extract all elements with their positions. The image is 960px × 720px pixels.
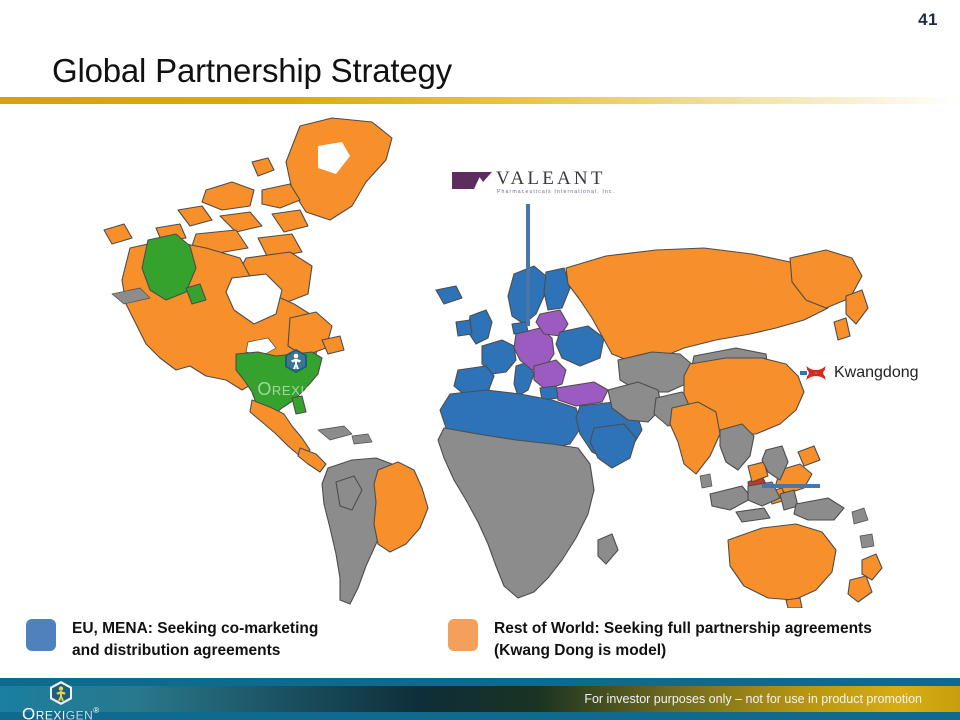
region-arctic-island-6 — [272, 210, 308, 232]
kwangdong-mark-icon — [800, 364, 832, 382]
legend-item-eu-mena: EU, MENA: Seeking co-marketing and distr… — [26, 618, 318, 662]
kwangdong-logo: Kwangdong — [800, 362, 930, 386]
region-sri-lanka — [700, 474, 712, 488]
page-number: 41 — [918, 10, 938, 30]
region-ukraine-belarus — [556, 326, 604, 366]
region-arctic-island-5 — [220, 212, 262, 232]
region-central-america — [298, 448, 326, 472]
region-balkans — [534, 360, 566, 390]
orexigen-word-dim: gen — [66, 705, 94, 720]
orexigen-watermark: Orexigen — [237, 348, 355, 396]
legend-label-rest-of-world: Rest of World: Seeking full partnership … — [494, 618, 872, 662]
region-java — [736, 508, 770, 522]
region-arctic-island-1 — [252, 158, 274, 176]
region-iceland — [436, 286, 462, 304]
region-chukotka-tip — [104, 224, 132, 244]
region-arctic-island-4 — [178, 206, 212, 226]
title-divider-rule — [0, 97, 960, 104]
region-caribbean-islands — [318, 426, 352, 440]
footer-disclaimer: For investor purposes only – not for use… — [584, 688, 922, 710]
region-pacific-islands — [852, 508, 868, 524]
orexigen-hexagon-icon — [283, 348, 309, 374]
page-title: Global Partnership Strategy — [52, 52, 452, 90]
slide-footer: Orexigen® For investor purposes only – n… — [0, 678, 960, 720]
orexigen-footer-logo: Orexigen® — [22, 678, 152, 720]
orexigen-word-bold: Orexi — [22, 705, 66, 720]
region-kamchatka — [846, 290, 868, 324]
region-turkey — [556, 382, 608, 406]
region-tasmania — [786, 598, 802, 608]
region-arctic-island-2 — [202, 182, 254, 210]
region-madagascar — [598, 534, 618, 564]
legend-swatch-rest-of-world — [448, 619, 478, 651]
valeant-wordmark: VALEANT — [496, 168, 606, 189]
registered-mark: ® — [93, 706, 99, 715]
region-indonesia-sumatra — [710, 486, 752, 510]
region-arabia — [590, 424, 636, 468]
region-japan-hokkaido — [798, 446, 820, 466]
orexigen-watermark-wordmark: Orexigen — [237, 379, 355, 399]
legend-item-rest-of-world: Rest of World: Seeking full partnership … — [448, 618, 872, 662]
legend-label-eu-mena: EU, MENA: Seeking co-marketing and distr… — [72, 618, 318, 662]
slide: 41 Global Partnership Strategy — [0, 0, 960, 720]
valeant-logo: VALEANT Pharmaceuticals International, I… — [452, 168, 592, 202]
region-uk — [468, 310, 492, 344]
region-sub-saharan-africa — [438, 428, 594, 598]
kwangdong-wordmark: Kwangdong — [834, 362, 919, 383]
region-new-guinea — [794, 498, 844, 520]
orexigen-footer-wordmark: Orexigen® — [22, 702, 100, 720]
legend-swatch-eu-mena — [26, 619, 56, 651]
valeant-mark-icon — [452, 170, 492, 191]
region-new-zealand-south — [848, 576, 872, 602]
region-brazil — [374, 462, 428, 552]
map-legend: EU, MENA: Seeking co-marketing and distr… — [0, 610, 960, 678]
valeant-tagline: Pharmaceuticals International, Inc. — [497, 189, 615, 195]
region-hispaniola — [352, 434, 372, 444]
region-indochina — [720, 424, 754, 470]
region-australia — [728, 524, 836, 600]
region-pacific-islands-2 — [860, 534, 874, 548]
region-india — [670, 402, 720, 474]
region-ireland — [456, 320, 472, 336]
region-finland — [544, 268, 570, 310]
region-sakhalin — [834, 318, 850, 340]
